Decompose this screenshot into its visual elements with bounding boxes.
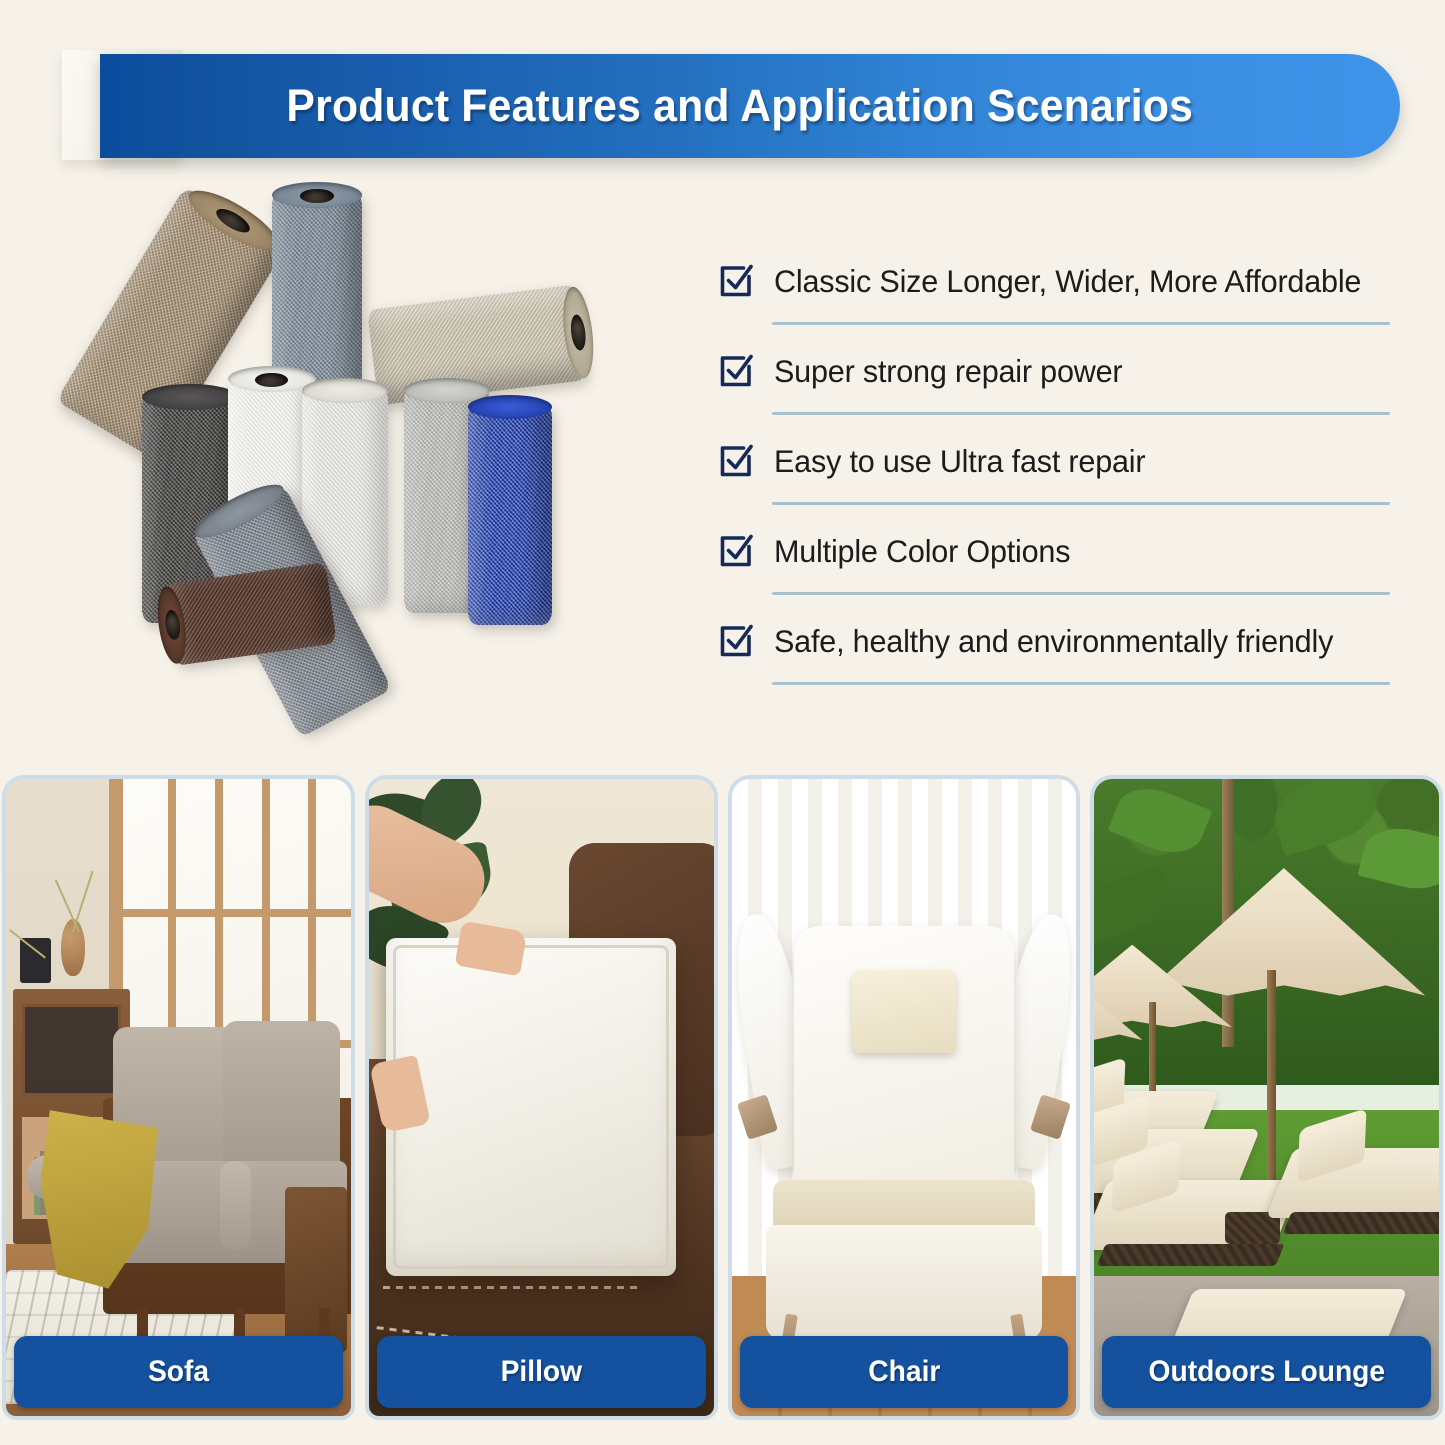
product-rolls-image — [120, 175, 640, 735]
checkbox-checked-icon — [716, 621, 756, 661]
panel-label-text: Chair — [868, 1355, 940, 1389]
checkbox-checked-icon — [716, 351, 756, 391]
scenario-panel-chair[interactable]: Chair — [728, 775, 1081, 1420]
product-infographic-page: Product Features and Application Scenari… — [0, 0, 1445, 1445]
panel-label-outdoors-lounge: Outdoors Lounge — [1102, 1336, 1431, 1408]
scene-image-pillow — [369, 779, 714, 1416]
scenario-panels: Sofa Pillow — [0, 775, 1445, 1420]
panel-label-text: Outdoors Lounge — [1148, 1355, 1385, 1389]
scene-image-sofa — [6, 779, 351, 1416]
feature-label: Multiple Color Options — [774, 533, 1070, 570]
feature-item: Classic Size Longer, Wider, More Afforda… — [716, 250, 1406, 340]
feature-label: Classic Size Longer, Wider, More Afforda… — [774, 263, 1361, 300]
panel-label-text: Sofa — [148, 1355, 209, 1389]
scenario-panel-pillow[interactable]: Pillow — [365, 775, 718, 1420]
scene-image-outdoors-lounge — [1094, 779, 1439, 1416]
feature-item: Easy to use Ultra fast repair — [716, 430, 1406, 520]
page-title: Product Features and Application Scenari… — [286, 80, 1214, 132]
scenario-panel-outdoors-lounge[interactable]: Outdoors Lounge — [1090, 775, 1443, 1420]
panel-label-chair: Chair — [740, 1336, 1069, 1408]
product-roll-royal-blue — [468, 403, 552, 625]
panel-label-sofa: Sofa — [14, 1336, 343, 1408]
panel-label-text: Pillow — [500, 1355, 581, 1389]
feature-item: Multiple Color Options — [716, 520, 1406, 610]
feature-divider — [772, 412, 1390, 415]
feature-item: Super strong repair power — [716, 340, 1406, 430]
checkbox-checked-icon — [716, 531, 756, 571]
feature-divider — [772, 682, 1390, 685]
feature-item: Safe, healthy and environmentally friend… — [716, 610, 1406, 700]
feature-label: Super strong repair power — [774, 353, 1122, 390]
panel-label-pillow: Pillow — [377, 1336, 706, 1408]
header-banner: Product Features and Application Scenari… — [100, 54, 1400, 158]
feature-divider — [772, 322, 1390, 325]
feature-label: Safe, healthy and environmentally friend… — [774, 623, 1333, 660]
feature-divider — [772, 592, 1390, 595]
scene-image-chair — [732, 779, 1077, 1416]
checkbox-checked-icon — [716, 441, 756, 481]
feature-list: Classic Size Longer, Wider, More Afforda… — [716, 250, 1406, 700]
header-banner-wrapper: Product Features and Application Scenari… — [0, 42, 1445, 172]
feature-divider — [772, 502, 1390, 505]
checkbox-checked-icon — [716, 261, 756, 301]
scenario-panel-sofa[interactable]: Sofa — [2, 775, 355, 1420]
feature-label: Easy to use Ultra fast repair — [774, 443, 1145, 480]
